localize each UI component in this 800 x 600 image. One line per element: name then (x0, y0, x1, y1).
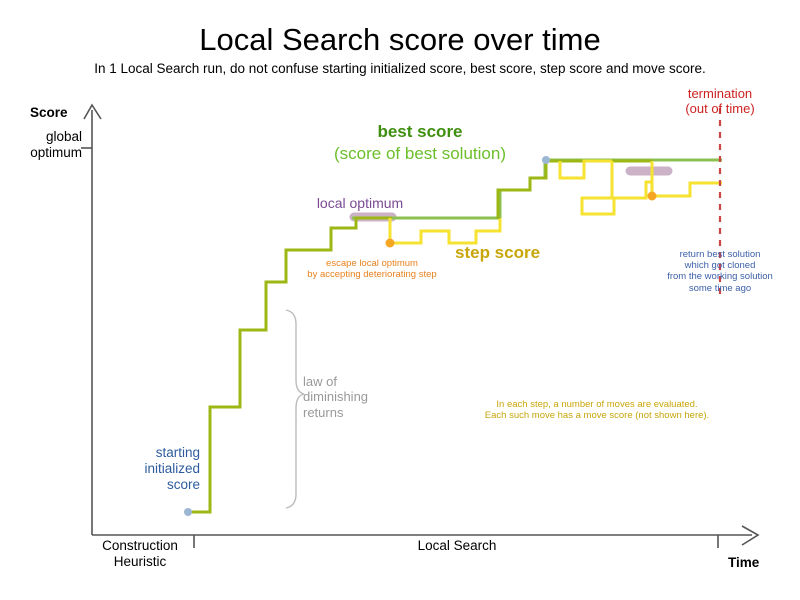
best-score-sublabel: (score of best solution) (270, 144, 570, 164)
x-axis-label: Time (728, 555, 759, 571)
y-axis-label: Score (30, 105, 68, 121)
termination-label: termination (out of time) (630, 86, 800, 117)
starting-score-dot (184, 508, 192, 516)
page-subtitle: In 1 Local Search run, do not confuse st… (0, 61, 800, 77)
diminishing-returns-brace (286, 310, 304, 508)
move-score-note: In each step, a number of moves are eval… (447, 399, 747, 421)
law-of-diminishing-returns-label: law of diminishing returns (303, 374, 368, 420)
escape-dot-1 (386, 239, 395, 248)
step-score-yellow-right-group (582, 161, 722, 214)
x-phase-label-construction-heuristic: Construction Heuristic (80, 538, 200, 570)
diagram-canvas: Local Search score over time In 1 Local … (0, 0, 800, 600)
best-score-label: best score (300, 122, 540, 142)
escape-local-optimum-note: escape local optimum by accepting deteri… (272, 258, 472, 280)
return-best-solution-note: return best solution which got cloned fr… (630, 249, 800, 294)
page-title: Local Search score over time (0, 22, 800, 59)
y-tick-label-global-optimum: global optimum (12, 129, 82, 161)
local-optimum-label: local optimum (270, 195, 450, 212)
starting-initialized-score-label: starting initialized score (90, 445, 200, 493)
x-phase-label-local-search: Local Search (377, 538, 537, 554)
step-score-label: step score (455, 243, 540, 263)
escape-dot-2 (648, 192, 657, 201)
step-score-yellow-line (390, 218, 500, 243)
